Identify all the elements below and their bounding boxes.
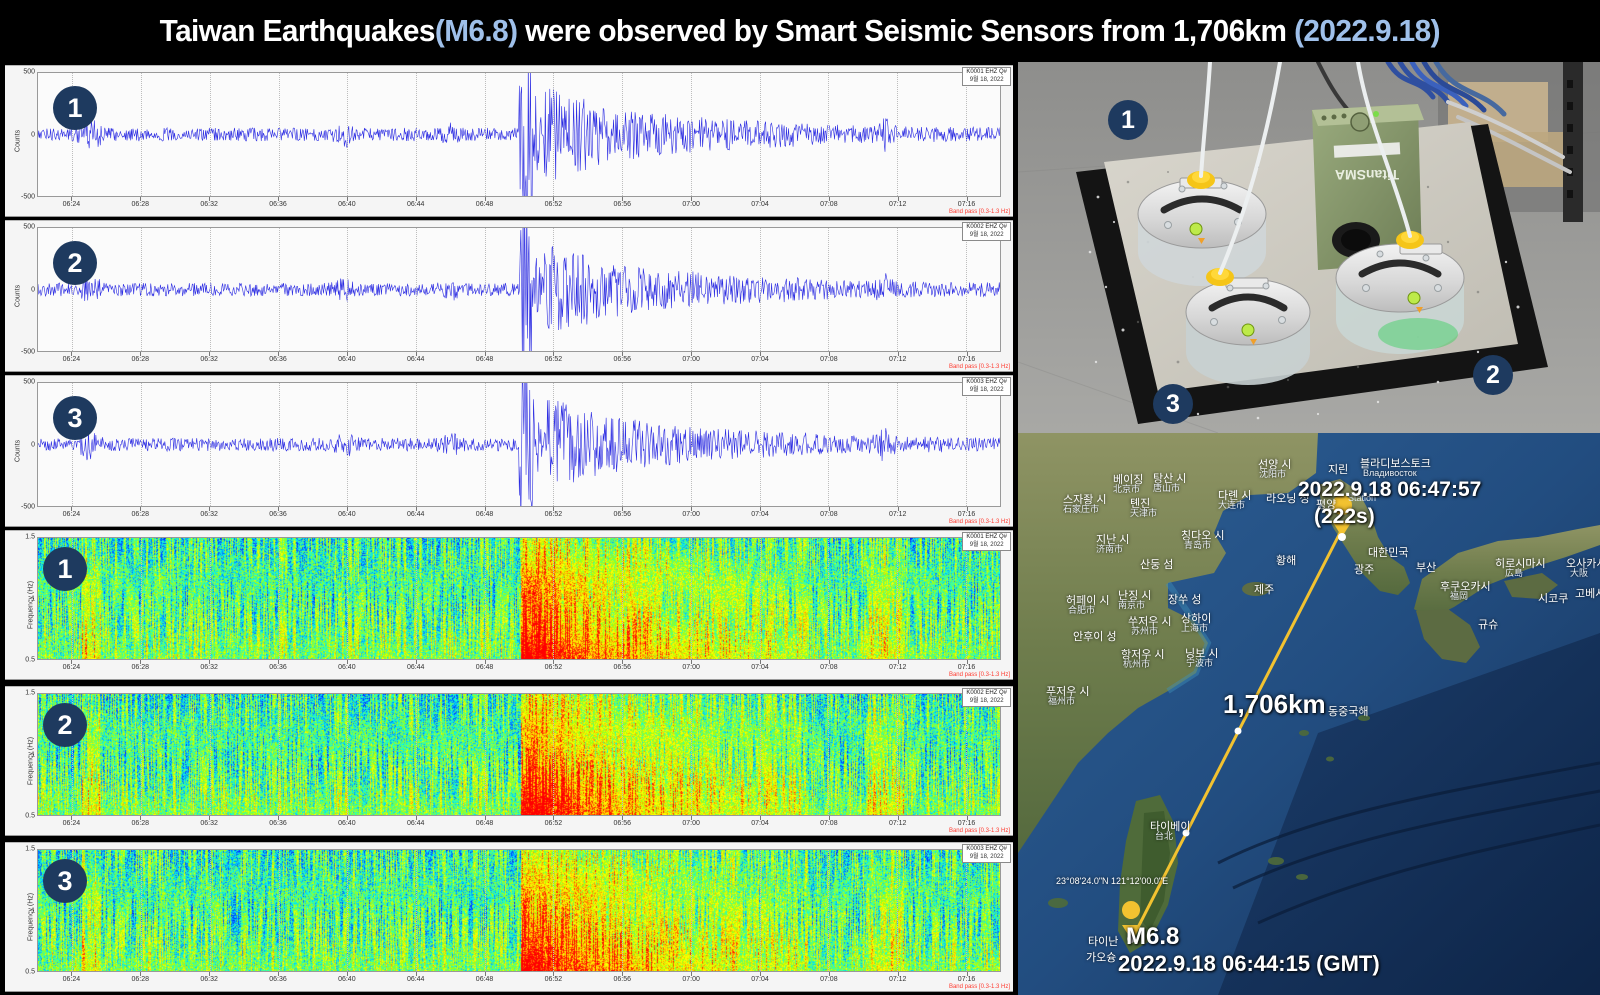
- channel-legend: K0003 EHZ Q#9월 18, 2022: [962, 377, 1011, 396]
- map-place-label: 石家庄市: [1063, 502, 1099, 515]
- spectrogram-panel-3[interactable]: Frequency (Hz)1.510.506:2406:2806:3206:3…: [5, 842, 1013, 992]
- channel-legend: K0002 EHZ Q#9월 18, 2022: [962, 222, 1011, 241]
- x-tick-label: 06:44: [407, 356, 425, 363]
- gridline: [416, 383, 417, 506]
- map-place-label: 장쑤 성: [1168, 591, 1201, 607]
- y-tick-label: 500: [23, 69, 35, 76]
- x-tick-label: 06:24: [63, 511, 81, 518]
- title-magnitude: (M6.8): [435, 13, 518, 48]
- event-origin-time: 2022.9.18 06:44:15 (GMT): [1118, 951, 1380, 977]
- x-tick-label: 06:36: [269, 201, 287, 208]
- x-tick-label: 07:12: [889, 356, 907, 363]
- gridline: [966, 694, 967, 815]
- gridline: [691, 694, 692, 815]
- y-axis-label-frequency: Frequency (Hz): [28, 737, 35, 785]
- bandpass-annotation: Band pass [0.3-1.3 Hz]: [949, 984, 1010, 990]
- x-tick-label: 07:08: [820, 976, 838, 983]
- panel-badge-1: 1: [53, 86, 97, 130]
- x-tick-label: 07:04: [751, 820, 769, 827]
- x-axis: 06:2406:2806:3206:3606:4006:4406:4806:52…: [37, 816, 1001, 835]
- x-tick-label: 06:40: [338, 201, 356, 208]
- x-axis: 06:2406:2806:3206:3606:4006:4406:4806:52…: [37, 197, 1001, 216]
- legend-date: 9월 18, 2022: [966, 698, 1007, 706]
- spectrogram-panel-2[interactable]: Frequency (Hz)1.510.506:2406:2806:3206:3…: [5, 686, 1013, 836]
- travel-duration: (222s): [1314, 505, 1375, 529]
- gridline: [485, 850, 486, 971]
- gridline: [279, 228, 280, 351]
- waveform-panel-3[interactable]: Counts5000-50006:2406:2806:3206:3606:400…: [5, 375, 1013, 527]
- gridline: [691, 228, 692, 351]
- map-place-label: 규슈: [1478, 616, 1498, 632]
- x-tick-label: 06:52: [545, 201, 563, 208]
- panel-badge-2: 2: [43, 703, 87, 747]
- x-tick-label: 06:56: [614, 356, 632, 363]
- x-tick-label: 06:52: [545, 356, 563, 363]
- map-place-label: 大连市: [1218, 498, 1245, 511]
- plot-area[interactable]: [37, 537, 1001, 660]
- gridline: [141, 850, 142, 971]
- x-tick-label: 07:00: [682, 201, 700, 208]
- map-place-label: 宁波市: [1186, 656, 1213, 669]
- waveform-trace: [38, 383, 1000, 506]
- x-tick-label: 06:28: [132, 664, 150, 671]
- x-tick-label: 06:32: [200, 820, 218, 827]
- map-place-label: 동중국해: [1328, 703, 1368, 719]
- gridline: [141, 538, 142, 659]
- panel-badge-3: 3: [43, 859, 87, 903]
- legend-channel: K0002 EHZ Q#: [966, 690, 1007, 698]
- gridline: [828, 538, 829, 659]
- waveform-trace: [38, 73, 1000, 196]
- legend-channel: K0003 EHZ Q#: [966, 846, 1007, 854]
- y-tick-label: 0.5: [25, 657, 35, 664]
- x-tick-label: 06:32: [200, 201, 218, 208]
- x-tick-label: 07:12: [889, 511, 907, 518]
- gridline: [279, 73, 280, 196]
- y-tick-label: -500: [21, 194, 35, 201]
- waveform-panel-2[interactable]: Counts5000-50006:2406:2806:3206:3606:400…: [5, 220, 1013, 372]
- gridline: [760, 694, 761, 815]
- gridline: [760, 850, 761, 971]
- gridline: [347, 383, 348, 506]
- x-tick-label: 06:40: [338, 356, 356, 363]
- spectrogram-image: [38, 850, 1000, 971]
- gridline: [691, 850, 692, 971]
- map-place-label: 타이난: [1088, 933, 1118, 949]
- y-tick-label: -500: [21, 504, 35, 511]
- gridline: [622, 228, 623, 351]
- x-tick-label: 06:32: [200, 356, 218, 363]
- x-tick-label: 07:08: [820, 511, 838, 518]
- x-tick-label: 06:28: [132, 201, 150, 208]
- y-tick-label: -500: [21, 349, 35, 356]
- epicenter-coordinates: 23°08'24.0"N 121°12'00.0"E: [1056, 876, 1168, 886]
- gridline: [897, 73, 898, 196]
- gridline: [691, 538, 692, 659]
- gridline: [279, 694, 280, 815]
- panel-badge-2: 2: [53, 241, 97, 285]
- legend-date: 9월 18, 2022: [966, 387, 1007, 395]
- gridline: [966, 850, 967, 971]
- station-arrival-time: 2022.9.18 06:47:57: [1298, 478, 1481, 502]
- legend-channel: K0002 EHZ Q#: [966, 224, 1007, 232]
- x-tick-label: 07:12: [889, 820, 907, 827]
- x-axis: 06:2406:2806:3206:3606:4006:4406:4806:52…: [37, 660, 1001, 679]
- x-tick-label: 06:36: [269, 511, 287, 518]
- gridline: [279, 538, 280, 659]
- map-place-label: 福州市: [1048, 694, 1075, 707]
- gridline: [210, 538, 211, 659]
- gridline: [141, 73, 142, 196]
- x-tick-label: 07:04: [751, 976, 769, 983]
- map-place-label: 광주: [1354, 561, 1374, 577]
- y-tick-label: 1: [31, 595, 35, 602]
- x-tick-label: 07:12: [889, 664, 907, 671]
- x-tick-label: 06:32: [200, 976, 218, 983]
- map-place-label: 合肥市: [1068, 603, 1095, 616]
- x-tick-label: 06:44: [407, 664, 425, 671]
- x-tick-label: 07:00: [682, 664, 700, 671]
- map-place-label: Владивосток: [1363, 468, 1417, 478]
- x-tick-label: 07:00: [682, 820, 700, 827]
- map-place-label: 天津市: [1130, 506, 1157, 519]
- map-place-label: 杭州市: [1123, 657, 1150, 670]
- gridline: [210, 694, 211, 815]
- gridline: [485, 383, 486, 506]
- gridline: [416, 694, 417, 815]
- legend-date: 9월 18, 2022: [966, 232, 1007, 240]
- y-axis-label-frequency: Frequency (Hz): [28, 581, 35, 629]
- x-tick-label: 06:52: [545, 511, 563, 518]
- map-place-label: 苏州市: [1131, 624, 1158, 637]
- map-place-label: 広島: [1505, 566, 1523, 579]
- map-place-label: 고베시: [1575, 585, 1600, 601]
- gridline: [347, 850, 348, 971]
- gridline: [622, 694, 623, 815]
- map-place-label: 황해: [1276, 552, 1296, 568]
- gridline: [141, 228, 142, 351]
- gridline: [416, 850, 417, 971]
- gridline: [691, 73, 692, 196]
- gridline: [141, 383, 142, 506]
- y-axis-label-counts: Counts: [15, 440, 22, 462]
- y-tick-label: 0: [31, 441, 35, 448]
- x-tick-label: 07:12: [889, 201, 907, 208]
- x-tick-label: 06:52: [545, 820, 563, 827]
- x-tick-label: 06:24: [63, 356, 81, 363]
- bandpass-annotation: Band pass [0.3-1.3 Hz]: [949, 519, 1010, 525]
- x-tick-label: 06:48: [476, 356, 494, 363]
- gridline: [828, 383, 829, 506]
- y-tick-label: 500: [23, 224, 35, 231]
- x-tick-label: 06:24: [63, 664, 81, 671]
- plot-area[interactable]: [37, 382, 1001, 507]
- gridline: [966, 538, 967, 659]
- bandpass-annotation: Band pass [0.3-1.3 Hz]: [949, 209, 1010, 215]
- map-place-label: 지린: [1328, 461, 1348, 477]
- x-tick-label: 06:44: [407, 976, 425, 983]
- y-tick-label: 1.5: [25, 534, 35, 541]
- map-place-label: 台北: [1155, 829, 1173, 842]
- x-tick-label: 07:08: [820, 664, 838, 671]
- sensor-photo: TitanSMA: [1018, 62, 1600, 433]
- x-tick-label: 06:36: [269, 664, 287, 671]
- title-date: (2022.9.18): [1294, 13, 1440, 48]
- distance-label: 1,706km: [1223, 689, 1326, 720]
- y-tick-label: 0.5: [25, 813, 35, 820]
- panel-badge-3: 3: [53, 396, 97, 440]
- plot-area[interactable]: [37, 693, 1001, 816]
- x-tick-label: 06:40: [338, 820, 356, 827]
- gridline: [553, 228, 554, 351]
- panel-badge-1: 1: [43, 547, 87, 591]
- gridline: [553, 538, 554, 659]
- gridline: [760, 73, 761, 196]
- map-place-label: 제주: [1254, 581, 1274, 597]
- photo-badge-1: 1: [1108, 100, 1148, 140]
- gridline: [416, 538, 417, 659]
- y-axis-label-frequency: Frequency (Hz): [28, 893, 35, 941]
- spectrogram-image: [38, 538, 1000, 659]
- spectrogram-panel-1[interactable]: Frequency (Hz)1.510.506:2406:2806:3206:3…: [5, 530, 1013, 680]
- x-tick-label: 07:08: [820, 356, 838, 363]
- gridline: [279, 850, 280, 971]
- gridline: [279, 383, 280, 506]
- gridline: [897, 694, 898, 815]
- x-tick-label: 07:00: [682, 356, 700, 363]
- gridline: [416, 73, 417, 196]
- x-tick-label: 06:52: [545, 976, 563, 983]
- gridline: [210, 850, 211, 971]
- y-tick-label: 1: [31, 751, 35, 758]
- legend-date: 9월 18, 2022: [966, 854, 1007, 862]
- x-tick-label: 06:40: [338, 664, 356, 671]
- map-place-label: 北京市: [1113, 482, 1140, 495]
- x-tick-label: 06:24: [63, 820, 81, 827]
- gridline: [347, 538, 348, 659]
- gridline: [897, 850, 898, 971]
- magnitude-label: M6.8: [1126, 923, 1179, 951]
- x-tick-label: 07:16: [958, 664, 976, 671]
- gridline: [347, 228, 348, 351]
- gridline: [416, 228, 417, 351]
- x-tick-label: 06:48: [476, 664, 494, 671]
- x-tick-label: 06:28: [132, 976, 150, 983]
- x-tick-label: 06:48: [476, 201, 494, 208]
- gridline: [897, 383, 898, 506]
- x-tick-label: 06:32: [200, 664, 218, 671]
- legend-date: 9월 18, 2022: [966, 542, 1007, 550]
- map-place-label: 가오슝: [1086, 949, 1116, 965]
- x-tick-label: 07:16: [958, 511, 976, 518]
- x-tick-label: 06:48: [476, 976, 494, 983]
- x-tick-label: 06:24: [63, 201, 81, 208]
- x-tick-label: 07:08: [820, 201, 838, 208]
- x-tick-label: 07:04: [751, 511, 769, 518]
- gridline: [141, 694, 142, 815]
- x-tick-label: 07:16: [958, 976, 976, 983]
- map-place-label: 시코쿠: [1538, 590, 1568, 606]
- gridline: [760, 538, 761, 659]
- gridline: [485, 73, 486, 196]
- gridline: [347, 73, 348, 196]
- page-title: Taiwan Earthquakes(M6.8) were observed b…: [160, 13, 1440, 49]
- channel-legend: K0001 EHZ Q#9월 18, 2022: [962, 532, 1011, 551]
- gridline: [622, 73, 623, 196]
- gridline: [553, 383, 554, 506]
- y-tick-label: 1.5: [25, 846, 35, 853]
- gridline: [210, 73, 211, 196]
- photo-badge-3: 3: [1153, 384, 1193, 424]
- x-tick-label: 07:00: [682, 976, 700, 983]
- x-tick-label: 06:56: [614, 511, 632, 518]
- gridline: [691, 383, 692, 506]
- x-axis: 06:2406:2806:3206:3606:4006:4406:4806:52…: [37, 507, 1001, 526]
- map-place-label: 부산: [1416, 559, 1436, 575]
- gridline: [828, 850, 829, 971]
- gridline: [210, 228, 211, 351]
- gridline: [966, 73, 967, 196]
- x-tick-label: 07:12: [889, 976, 907, 983]
- right-column: TitanSMA: [1018, 62, 1600, 995]
- map-place-label: 大阪: [1570, 566, 1588, 579]
- x-tick-label: 06:48: [476, 511, 494, 518]
- map-place-label: 대한민국: [1368, 544, 1408, 560]
- x-tick-label: 06:28: [132, 511, 150, 518]
- x-tick-label: 06:44: [407, 201, 425, 208]
- x-tick-label: 06:40: [338, 511, 356, 518]
- gridline: [760, 228, 761, 351]
- gridline: [760, 383, 761, 506]
- x-tick-label: 07:04: [751, 664, 769, 671]
- x-tick-label: 06:28: [132, 820, 150, 827]
- map-place-label: 福岡: [1450, 589, 1468, 602]
- gridline: [622, 383, 623, 506]
- x-tick-label: 06:36: [269, 356, 287, 363]
- x-tick-label: 06:48: [476, 820, 494, 827]
- map-place-label: 南京市: [1118, 598, 1145, 611]
- bandpass-annotation: Band pass [0.3-1.3 Hz]: [949, 364, 1010, 370]
- x-tick-label: 06:56: [614, 820, 632, 827]
- x-tick-label: 06:40: [338, 976, 356, 983]
- channel-legend: K0003 EHZ Q#9월 18, 2022: [962, 844, 1011, 863]
- channel-legend: K0002 EHZ Q#9월 18, 2022: [962, 688, 1011, 707]
- photo-badge-2: 2: [1473, 355, 1513, 395]
- title-part-1: Taiwan Earthquakes: [160, 13, 435, 48]
- x-tick-label: 06:36: [269, 976, 287, 983]
- map-place-label: 唐山市: [1153, 481, 1180, 494]
- x-tick-label: 06:52: [545, 664, 563, 671]
- map-place-label: 沈阳市: [1259, 467, 1286, 480]
- gridline: [210, 383, 211, 506]
- bandpass-annotation: Band pass [0.3-1.3 Hz]: [949, 828, 1010, 834]
- map-place-label: 济南市: [1096, 542, 1123, 555]
- gridline: [828, 73, 829, 196]
- gridline: [485, 228, 486, 351]
- y-tick-label: 1: [31, 907, 35, 914]
- legend-channel: K0001 EHZ Q#: [966, 534, 1007, 542]
- waveform-trace: [38, 228, 1000, 351]
- gridline: [622, 538, 623, 659]
- gridline: [966, 228, 967, 351]
- title-part-2: were observed by Smart Seismic Sensors f…: [518, 13, 1295, 48]
- x-tick-label: 07:16: [958, 356, 976, 363]
- y-tick-label: 0: [31, 131, 35, 138]
- plot-area[interactable]: [37, 72, 1001, 197]
- x-tick-label: 06:36: [269, 820, 287, 827]
- x-axis: 06:2406:2806:3206:3606:4006:4406:4806:52…: [37, 972, 1001, 991]
- x-tick-label: 07:08: [820, 820, 838, 827]
- plot-area[interactable]: [37, 227, 1001, 352]
- x-tick-label: 06:24: [63, 976, 81, 983]
- gridline: [966, 383, 967, 506]
- map-place-label: 上海市: [1181, 621, 1208, 634]
- map-place-label: 青岛市: [1184, 538, 1211, 551]
- waveform-panel-1[interactable]: Counts5000-50006:2406:2806:3206:3606:400…: [5, 65, 1013, 217]
- x-tick-label: 07:04: [751, 201, 769, 208]
- gridline: [485, 694, 486, 815]
- x-tick-label: 07:04: [751, 356, 769, 363]
- title-bar: Taiwan Earthquakes(M6.8) were observed b…: [0, 0, 1600, 62]
- gridline: [347, 694, 348, 815]
- x-tick-label: 06:56: [614, 201, 632, 208]
- map-place-label: 안후이 성: [1073, 628, 1117, 644]
- legend-date: 9월 18, 2022: [966, 77, 1007, 85]
- gridline: [485, 538, 486, 659]
- x-tick-label: 07:16: [958, 820, 976, 827]
- legend-channel: K0003 EHZ Q#: [966, 379, 1007, 387]
- channel-legend: K0001 EHZ Q#9월 18, 2022: [962, 67, 1011, 86]
- map-view[interactable]: Station 2022.9.18 06:47:57 (222s) 1,706k…: [1018, 433, 1600, 995]
- gridline: [828, 694, 829, 815]
- spectrogram-image: [38, 694, 1000, 815]
- y-tick-label: 1.5: [25, 690, 35, 697]
- x-tick-label: 06:44: [407, 511, 425, 518]
- x-tick-label: 07:16: [958, 201, 976, 208]
- gridline: [553, 73, 554, 196]
- gridline: [828, 228, 829, 351]
- gridline: [897, 228, 898, 351]
- gridline: [897, 538, 898, 659]
- x-tick-label: 07:00: [682, 511, 700, 518]
- x-tick-label: 06:56: [614, 976, 632, 983]
- y-axis-label-counts: Counts: [15, 130, 22, 152]
- plot-stack: Counts5000-50006:2406:2806:3206:3606:400…: [0, 62, 1018, 995]
- gridline: [553, 694, 554, 815]
- legend-channel: K0001 EHZ Q#: [966, 69, 1007, 77]
- gridline: [622, 850, 623, 971]
- x-tick-label: 06:32: [200, 511, 218, 518]
- y-axis-label-counts: Counts: [15, 285, 22, 307]
- gridline: [553, 850, 554, 971]
- x-tick-label: 06:28: [132, 356, 150, 363]
- y-tick-label: 0.5: [25, 969, 35, 976]
- bandpass-annotation: Band pass [0.3-1.3 Hz]: [949, 672, 1010, 678]
- x-tick-label: 06:56: [614, 664, 632, 671]
- y-tick-label: 500: [23, 379, 35, 386]
- plot-area[interactable]: [37, 849, 1001, 972]
- map-place-label: 산둥 섬: [1140, 556, 1173, 572]
- x-axis: 06:2406:2806:3206:3606:4006:4406:4806:52…: [37, 352, 1001, 371]
- y-tick-label: 0: [31, 286, 35, 293]
- x-tick-label: 06:44: [407, 820, 425, 827]
